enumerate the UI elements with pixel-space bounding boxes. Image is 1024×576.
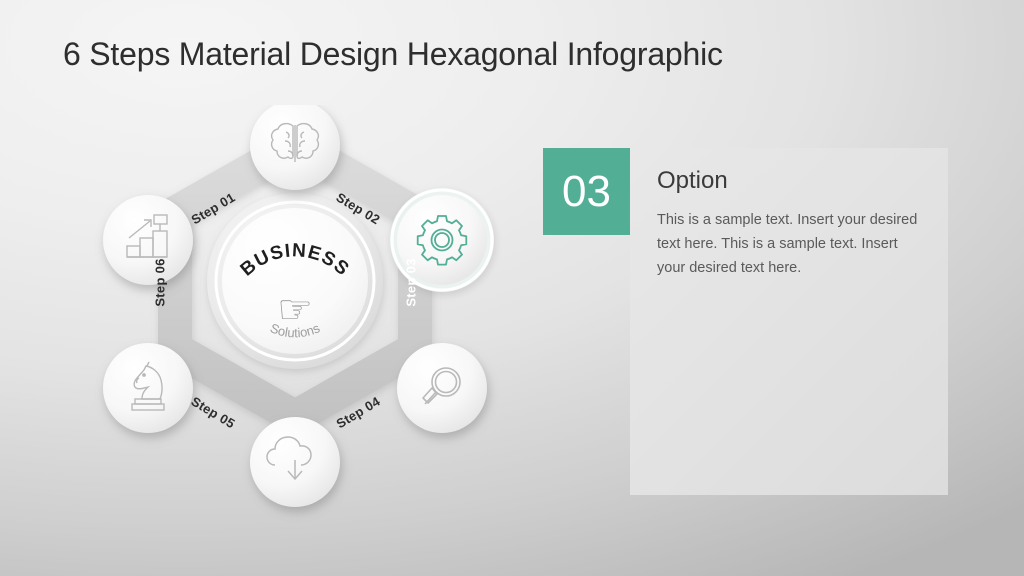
hub-outer-ring: [207, 193, 383, 369]
step-node-cloud[interactable]: [250, 417, 340, 507]
step-node-gear[interactable]: [390, 188, 494, 292]
step-number: 03: [562, 170, 611, 214]
pointing-hand-icon: ☞: [235, 290, 355, 330]
hexagonal-infographic: BUSINESS Solutions: [85, 105, 505, 525]
page-title: 6 Steps Material Design Hexagonal Infogr…: [63, 36, 723, 73]
option-panel: [630, 148, 948, 495]
step-node-magnifier[interactable]: [397, 343, 487, 433]
step-node-growth[interactable]: [103, 195, 193, 285]
step-number-badge: 03: [543, 148, 630, 235]
slide: 6 Steps Material Design Hexagonal Infogr…: [0, 0, 1024, 576]
panel-body-text: This is a sample text. Insert your desir…: [657, 208, 919, 280]
step-node-knight[interactable]: [103, 343, 193, 433]
panel-heading: Option: [657, 167, 728, 195]
